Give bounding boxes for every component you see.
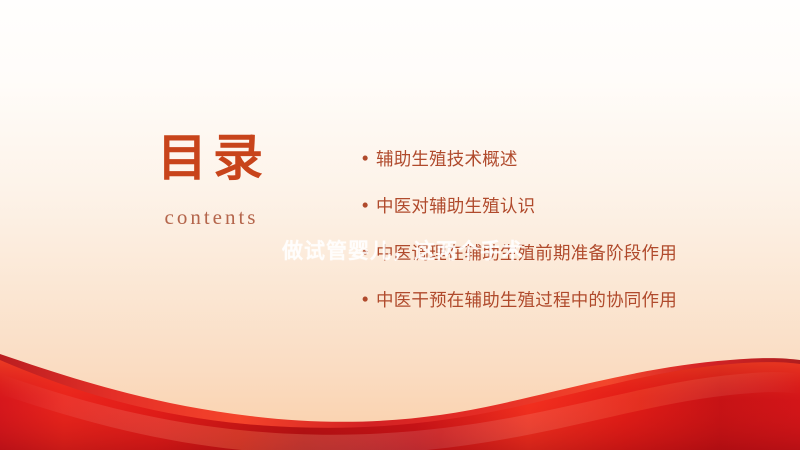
ribbon-front-wave <box>0 360 800 450</box>
list-item[interactable]: • 辅助生殖技术概述 <box>358 143 724 178</box>
bullet-icon: • <box>360 237 371 272</box>
list-item-label: 中医对辅助生殖认识 <box>376 197 535 217</box>
list-item-label: 中医调理在辅助生殖前期准备阶段作用 <box>376 244 677 264</box>
ribbon-right-crest <box>0 376 800 450</box>
ribbon-shading <box>0 360 800 450</box>
table-of-contents-list: • 辅助生殖技术概述 • 中医对辅助生殖认识 • 中医调理在辅助生殖前期准备阶段… <box>358 143 724 319</box>
list-item[interactable]: • 中医干预在辅助生殖过程中的协同作用 <box>358 284 724 319</box>
list-item-label: 辅助生殖技术概述 <box>376 150 518 170</box>
list-item[interactable]: • 中医对辅助生殖认识 <box>358 190 724 225</box>
list-item-label: 中医干预在辅助生殖过程中的协同作用 <box>376 291 677 311</box>
list-item[interactable]: • 中医调理在辅助生殖前期准备阶段作用 <box>358 237 724 272</box>
ribbon-highlight <box>0 372 800 450</box>
ribbon-back-wave <box>0 354 800 450</box>
toc-title-block: 目录 contents <box>90 128 330 230</box>
slide-canvas: 目录 contents • 辅助生殖技术概述 • 中医对辅助生殖认识 • 中医调… <box>0 0 800 450</box>
bullet-icon: • <box>360 284 371 319</box>
bullet-icon: • <box>360 190 371 225</box>
bullet-icon: • <box>360 143 371 178</box>
page-title: 目录 <box>90 128 330 187</box>
red-wave-ribbon-decoration <box>0 330 800 450</box>
page-subtitle: contents <box>90 205 330 230</box>
